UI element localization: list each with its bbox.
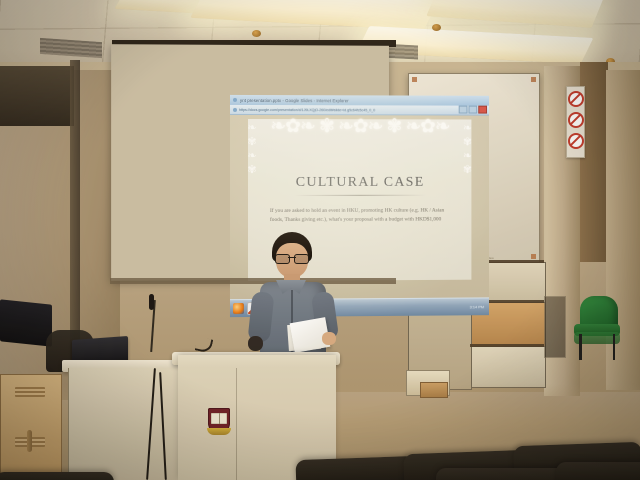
- browser-address-bar[interactable]: https://docs.google.com/presentation/d/1…: [230, 105, 489, 116]
- crest-ribbon: [207, 428, 231, 435]
- wall-cabinet[interactable]: [470, 346, 546, 388]
- lecture-seat[interactable]: [556, 462, 640, 480]
- lecture-seat[interactable]: [0, 472, 114, 480]
- board-clip: [531, 254, 536, 259]
- locker-vent: [15, 387, 45, 397]
- maximize-button[interactable]: [468, 106, 477, 114]
- chair-leg: [613, 334, 616, 360]
- equipment-locker[interactable]: [0, 374, 62, 480]
- firefox-icon[interactable]: [233, 303, 244, 314]
- slide-ornament-top: ❧✿❧ ✾ ❧✿❧ ✾ ❧✿❧: [244, 117, 475, 157]
- board-clip: [531, 77, 536, 82]
- door-frame: [70, 60, 80, 360]
- board-clip: [412, 77, 417, 82]
- microphone-icon[interactable]: [149, 294, 154, 310]
- slide-title-divider: [294, 195, 426, 196]
- cabinet-divider: [470, 344, 544, 347]
- presenter-right-hand: [322, 332, 336, 345]
- ie-favicon-icon: [233, 98, 237, 102]
- slide-title: CULTURAL CASE: [230, 175, 489, 191]
- slide-body-text: If you are asked to hold an event in HKU…: [270, 207, 456, 225]
- close-button[interactable]: [478, 106, 487, 114]
- lecture-room-scene: ✕ Please do not write on this surface yr…: [0, 0, 640, 480]
- left-doorway: [0, 66, 74, 126]
- minimize-button[interactable]: [459, 106, 468, 114]
- presenter: [246, 232, 338, 372]
- chair-leg: [579, 334, 582, 360]
- av-monitor: [0, 299, 52, 346]
- locker-handle[interactable]: [27, 430, 32, 452]
- browser-window-title: yr4 presentation.pptx - Google Slides - …: [240, 97, 349, 102]
- sprinkler-icon: [432, 24, 441, 31]
- site-icon: [233, 107, 237, 111]
- no-eating-icon: [568, 112, 584, 128]
- hku-crest: [208, 408, 230, 434]
- no-smoking-icon: [568, 91, 584, 107]
- presenter-left-hand: [248, 336, 263, 351]
- cardboard-box: [420, 382, 448, 398]
- address-bar-url: https://docs.google.com/presentation/d/1…: [239, 107, 375, 111]
- wall-recess: [544, 296, 566, 358]
- stacked-green-chairs[interactable]: [574, 296, 620, 346]
- no-drinking-icon: [568, 133, 584, 149]
- window-controls[interactable]: [459, 106, 487, 114]
- lecture-seat[interactable]: [436, 468, 566, 480]
- lecture-seat[interactable]: [295, 456, 416, 480]
- prohibition-sign-strip: [566, 86, 585, 158]
- podium-seam: [236, 368, 237, 480]
- sprinkler-icon: [252, 30, 261, 37]
- crest-book-icon: [211, 413, 227, 424]
- slide-ornament-right: ❧ ✾ ❧ ✾: [460, 121, 476, 281]
- glasses-icon: [275, 254, 309, 262]
- taskbar-clock: 3:14 PM: [470, 304, 487, 309]
